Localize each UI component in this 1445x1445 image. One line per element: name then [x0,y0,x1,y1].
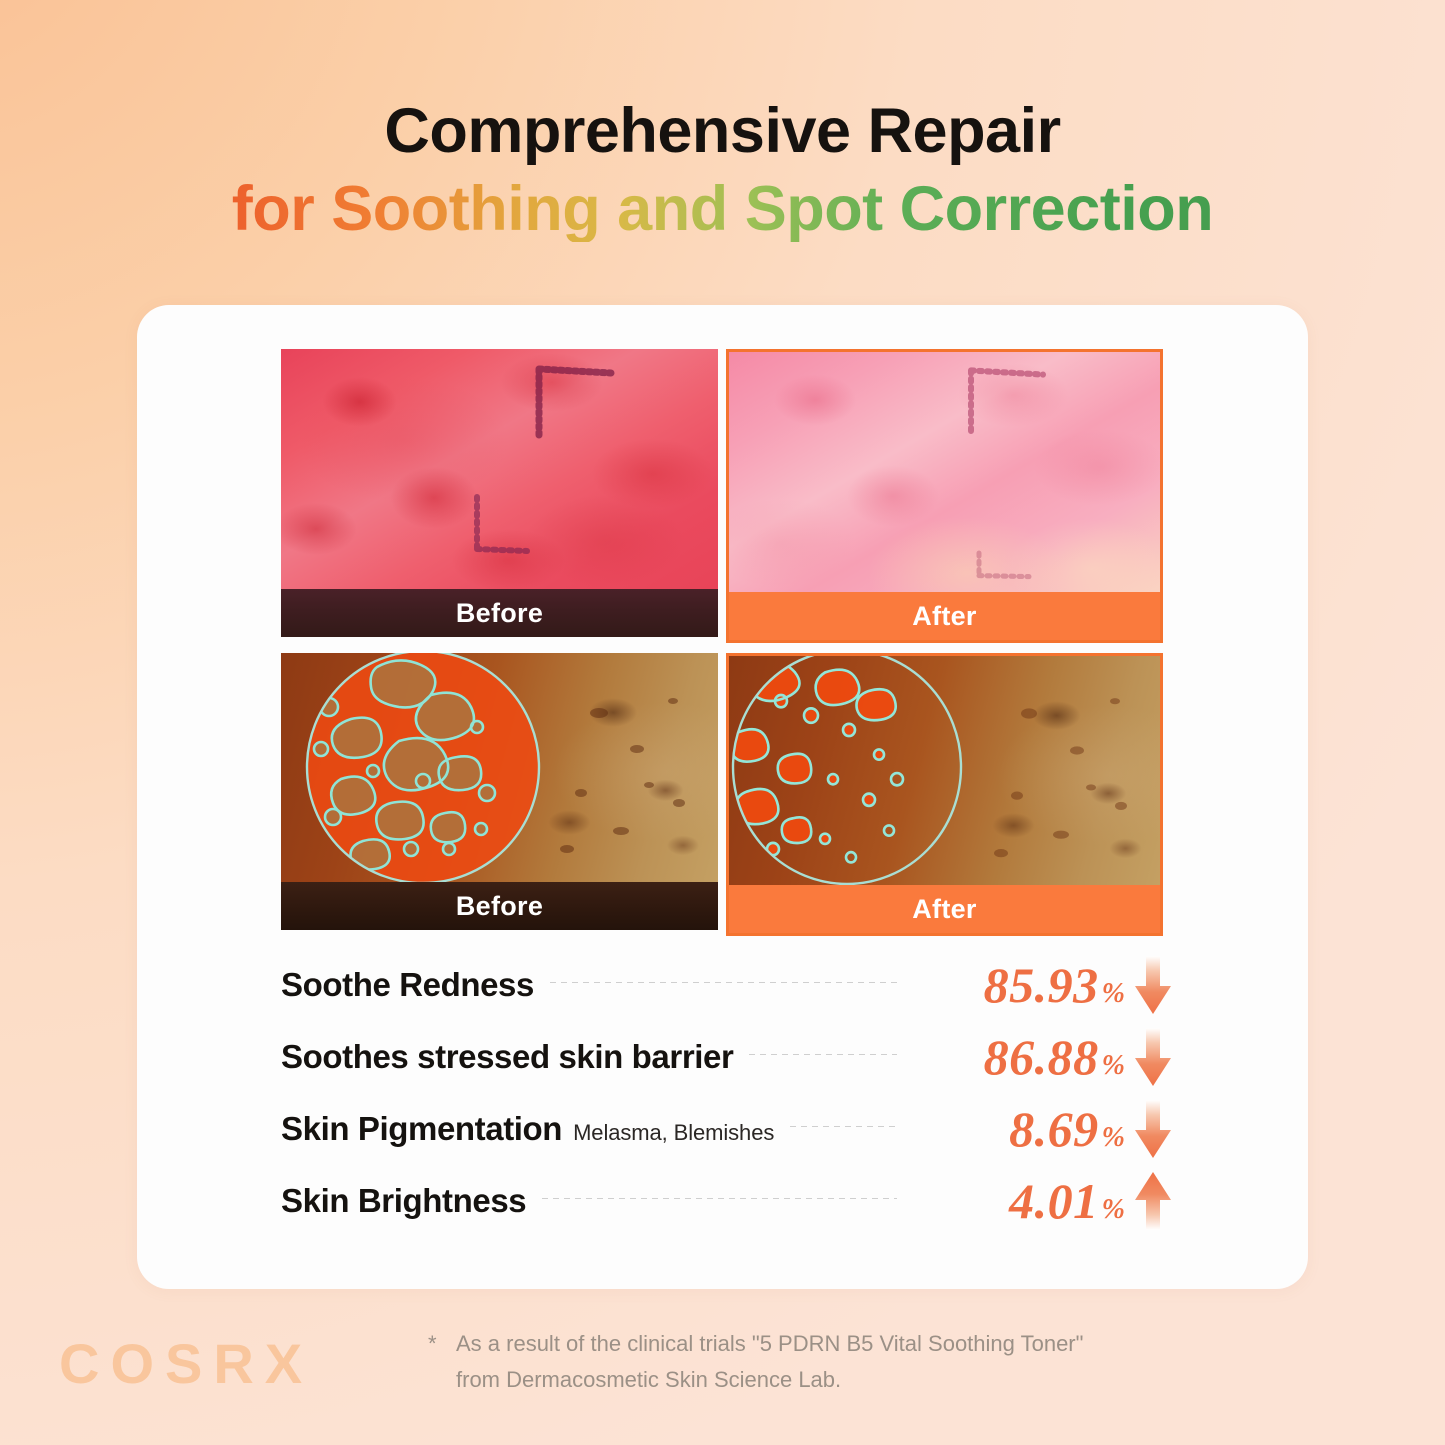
stat-number: 8.69 [1009,1100,1099,1158]
stat-row-skin-brightness: Skin Brightness 4.01 % [281,1165,1181,1237]
redness-after-panel: After [726,349,1163,643]
stat-row-skin-pigmentation: Skin Pigmentation Melasma, Blemishes 8.6… [281,1093,1181,1165]
stat-label: Skin Pigmentation Melasma, Blemishes [281,1110,774,1148]
disclaimer: * As a result of the clinical trials "5 … [428,1326,1228,1397]
redness-before-caption: Before [281,589,718,637]
poster-root: Comprehensive Repair for Soothing and Sp… [0,0,1445,1445]
stat-name: Skin Brightness [281,1182,526,1220]
pigmentation-before-analysis [281,653,718,882]
brand-logo: COSRX [59,1331,313,1396]
disclaimer-line-1: As a result of the clinical trials "5 PD… [456,1326,1228,1362]
pigmentation-after-analysis [729,656,1160,885]
stat-connector [542,1198,897,1199]
stat-label: Soothe Redness [281,966,534,1004]
comparison-row-redness: Before After [281,349,1163,643]
page-subtitle: for Soothing and Spot Correction [0,176,1445,242]
arrow-down-icon [1125,1026,1181,1088]
pigmentation-after-panel: After [726,653,1163,936]
redness-before-panel: Before [281,349,718,643]
heading-block: Comprehensive Repair for Soothing and Sp… [0,98,1445,242]
pigmentation-after-photo [729,656,1160,885]
stat-connector [790,1126,897,1127]
redness-after-caption: After [729,592,1160,640]
arrow-down-icon [1125,1098,1181,1160]
comparison-row-pigmentation: Before [281,653,1163,936]
pigmentation-after-caption: After [729,885,1160,933]
asterisk-marker: * [428,1326,437,1362]
stat-label: Skin Brightness [281,1182,526,1220]
stat-unit: % [1102,978,1125,1010]
disclaimer-line-2: from Dermacosmetic Skin Science Lab. [456,1362,1228,1398]
stat-value: 8.69 % [913,1100,1125,1158]
redness-before-marks [281,349,718,589]
stat-value: 4.01 % [913,1172,1125,1230]
stat-number: 4.01 [1009,1172,1099,1230]
pigmentation-before-photo [281,653,718,882]
stats-list: Soothe Redness 85.93 % [281,949,1181,1237]
redness-after-marks [729,352,1160,592]
stat-connector [550,982,897,983]
page-title: Comprehensive Repair [0,98,1445,164]
pigmentation-before-panel: Before [281,653,718,936]
stat-number: 86.88 [984,1028,1099,1086]
stat-name: Skin Pigmentation [281,1110,562,1148]
content-card: Before After [137,305,1308,1289]
stat-connector [749,1054,897,1055]
arrow-down-icon [1125,954,1181,1016]
redness-before-photo [281,349,718,589]
stat-note: Melasma, Blemishes [573,1120,774,1146]
stat-name: Soothes stressed skin barrier [281,1038,733,1076]
stat-unit: % [1102,1194,1125,1226]
comparison-grid: Before After [281,349,1163,946]
stat-label: Soothes stressed skin barrier [281,1038,733,1076]
stat-row-soothe-redness: Soothe Redness 85.93 % [281,949,1181,1021]
arrow-up-icon [1125,1170,1181,1232]
pigmentation-before-caption: Before [281,882,718,930]
stat-unit: % [1102,1050,1125,1082]
stat-unit: % [1102,1122,1125,1154]
stat-value: 86.88 % [913,1028,1125,1086]
redness-after-photo [729,352,1160,592]
stat-value: 85.93 % [913,956,1125,1014]
stat-number: 85.93 [984,956,1099,1014]
stat-row-skin-barrier: Soothes stressed skin barrier 86.88 % [281,1021,1181,1093]
stat-name: Soothe Redness [281,966,534,1004]
